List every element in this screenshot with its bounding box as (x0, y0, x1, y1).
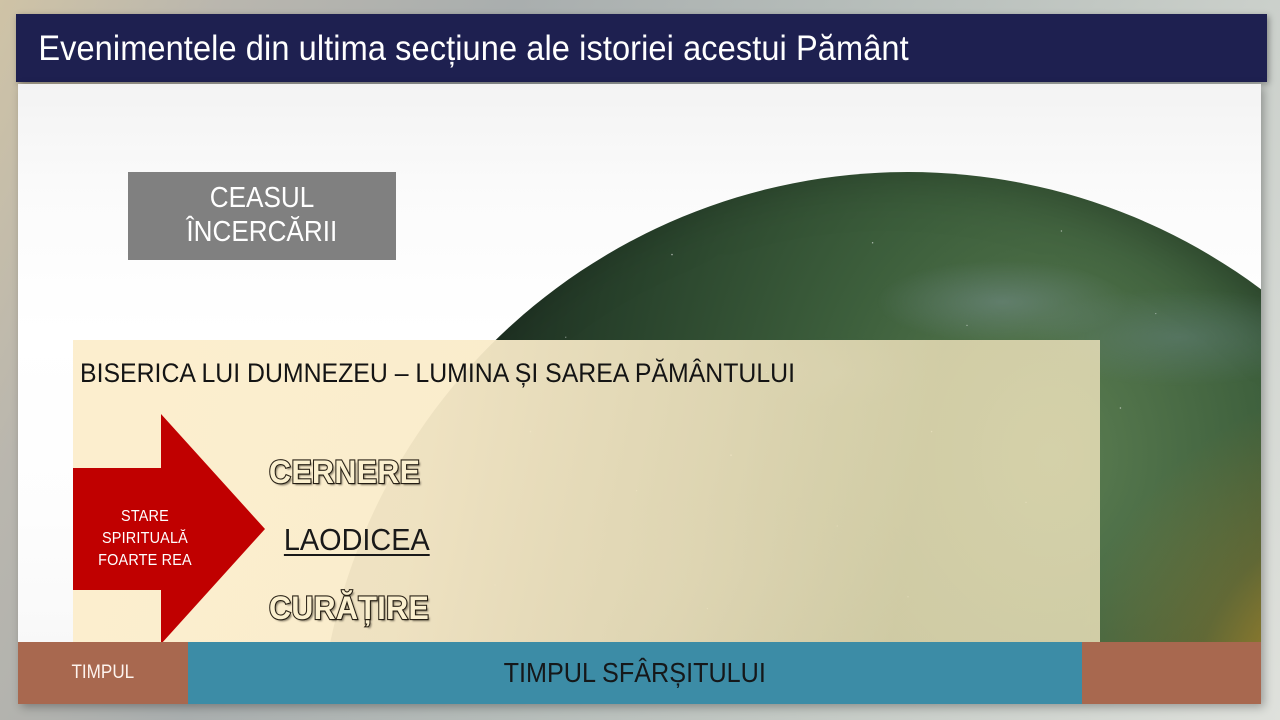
slide-title-bar: Evenimentele din ultima secțiune ale ist… (16, 14, 1267, 82)
stage-label-cernere: CERNERE (269, 454, 420, 491)
trial-hour-box: CEASUL ÎNCERCĂRII (128, 172, 396, 260)
timeline-bar: TIMPUL TIMPUL SFÂRȘITULUI (18, 642, 1261, 704)
stage-list: CERNERE LAODICEA CURĂȚIRE (269, 438, 499, 642)
arrow-label-line-3: FOARTE REA (84, 550, 207, 572)
stage-label-laodicea: LAODICEA (269, 522, 430, 558)
trial-hour-line-1: CEASUL (210, 182, 314, 216)
arrow-label-line-2: SPIRITUALĂ (84, 528, 207, 550)
timeline-segment-end-time: TIMPUL SFÂRȘITULUI (188, 642, 1082, 704)
arrow-label: STARE SPIRITUALĂ FOARTE REA (84, 506, 207, 572)
slide-root: Evenimentele din ultima secțiune ale ist… (0, 0, 1280, 720)
stage-item-curatire: CURĂȚIRE (269, 574, 499, 642)
timeline-middle-label: TIMPUL SFÂRȘITULUI (504, 657, 766, 689)
arrow-label-line-1: STARE (84, 506, 207, 528)
slide-title: Evenimentele din ultima secțiune ale ist… (16, 31, 909, 66)
timeline-left-label: TIMPUL (72, 662, 135, 684)
timeline-segment-timpul: TIMPUL (18, 642, 188, 704)
stage-item-cernere: CERNERE (269, 438, 499, 506)
timeline-segment-right (1082, 642, 1261, 704)
slide-body: CEASUL ÎNCERCĂRII BISERICA LUI DUMNEZEU … (18, 84, 1261, 704)
panel-heading: BISERICA LUI DUMNEZEU – LUMINA ȘI SAREA … (80, 358, 795, 389)
red-arrow-shape: STARE SPIRITUALĂ FOARTE REA (73, 414, 265, 644)
stage-item-laodicea: LAODICEA (269, 506, 499, 574)
trial-hour-line-2: ÎNCERCĂRII (187, 216, 338, 250)
stage-label-curatire: CURĂȚIRE (269, 590, 429, 627)
